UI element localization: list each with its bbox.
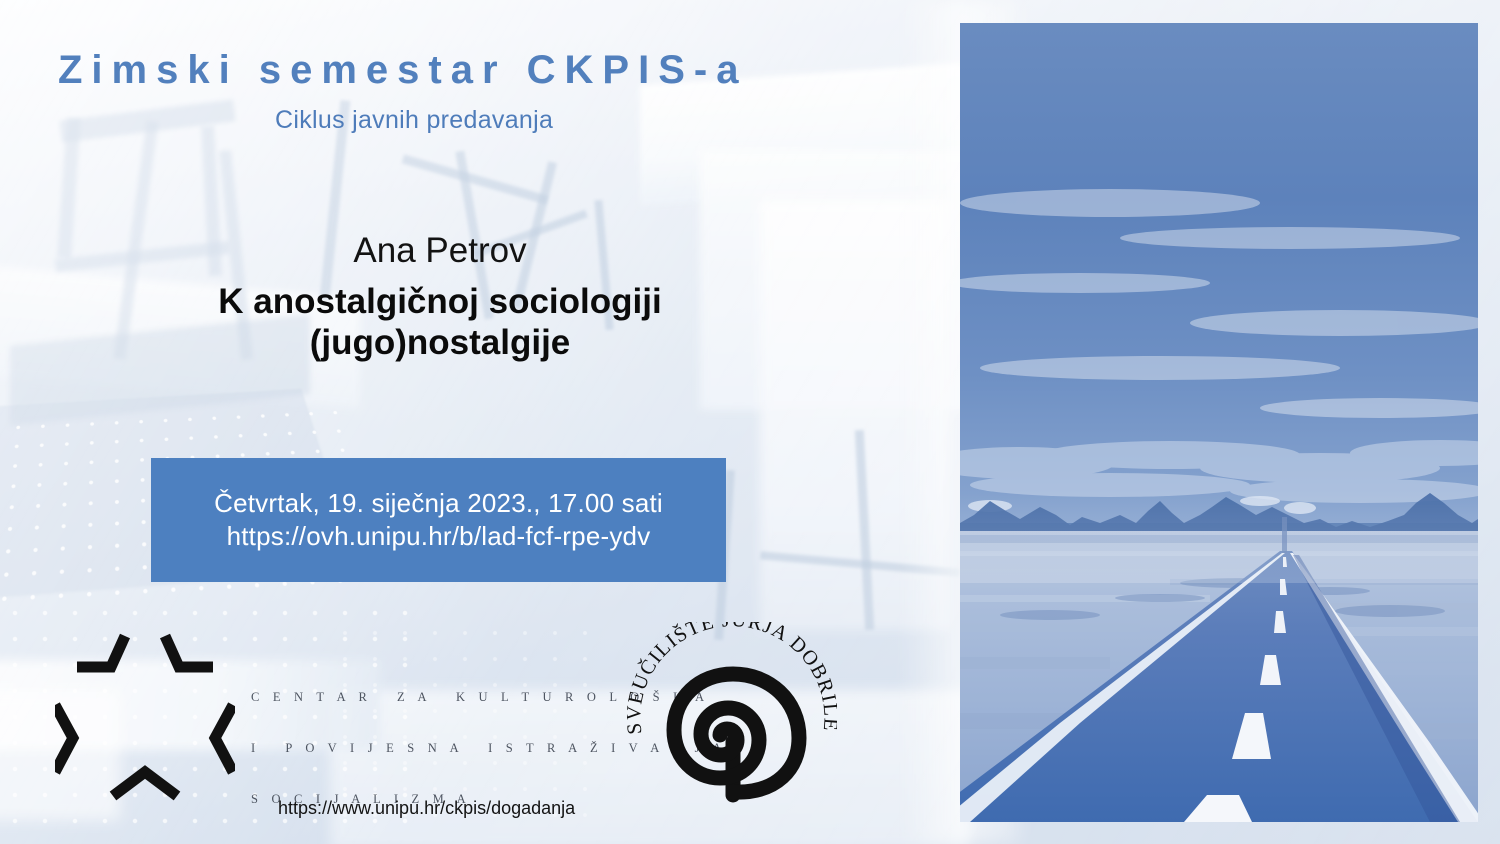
poster-subheadline: Ciklus javnih predavanja (275, 106, 553, 135)
lecture-title: K anostalgičnoj sociologiji (jugo)nostal… (0, 281, 880, 364)
ckpis-chevrons-icon (55, 620, 235, 805)
university-logo: SVEUČILIŠTE JURJA DOBRILE U PULI (627, 622, 837, 820)
photo-horizon-haze (960, 493, 1478, 583)
university-spiral-icon: SVEUČILIŠTE JURJA DOBRILE U PULI (627, 622, 837, 820)
footer-website-url[interactable]: https://www.unipu.hr/ckpis/dogadanja (278, 798, 575, 819)
lecture-title-line-1: K anostalgičnoj sociologiji (0, 281, 880, 322)
lecture-title-line-2: (jugo)nostalgije (0, 322, 880, 363)
ckpis-logo-mark (55, 620, 235, 805)
event-info-box: Četvrtak, 19. siječnja 2023., 17.00 sati… (151, 458, 726, 582)
event-meeting-url[interactable]: https://ovh.unipu.hr/b/lad-fcf-rpe-ydv (227, 521, 651, 552)
photo-desert-road (960, 23, 1478, 822)
poster-canvas: Zimski semestar CKPIS-a Ciklus javnih pr… (0, 0, 1500, 844)
event-datetime: Četvrtak, 19. siječnja 2023., 17.00 sati (214, 488, 663, 519)
speaker-name: Ana Petrov (0, 231, 880, 271)
poster-headline: Zimski semestar CKPIS-a (58, 48, 747, 93)
